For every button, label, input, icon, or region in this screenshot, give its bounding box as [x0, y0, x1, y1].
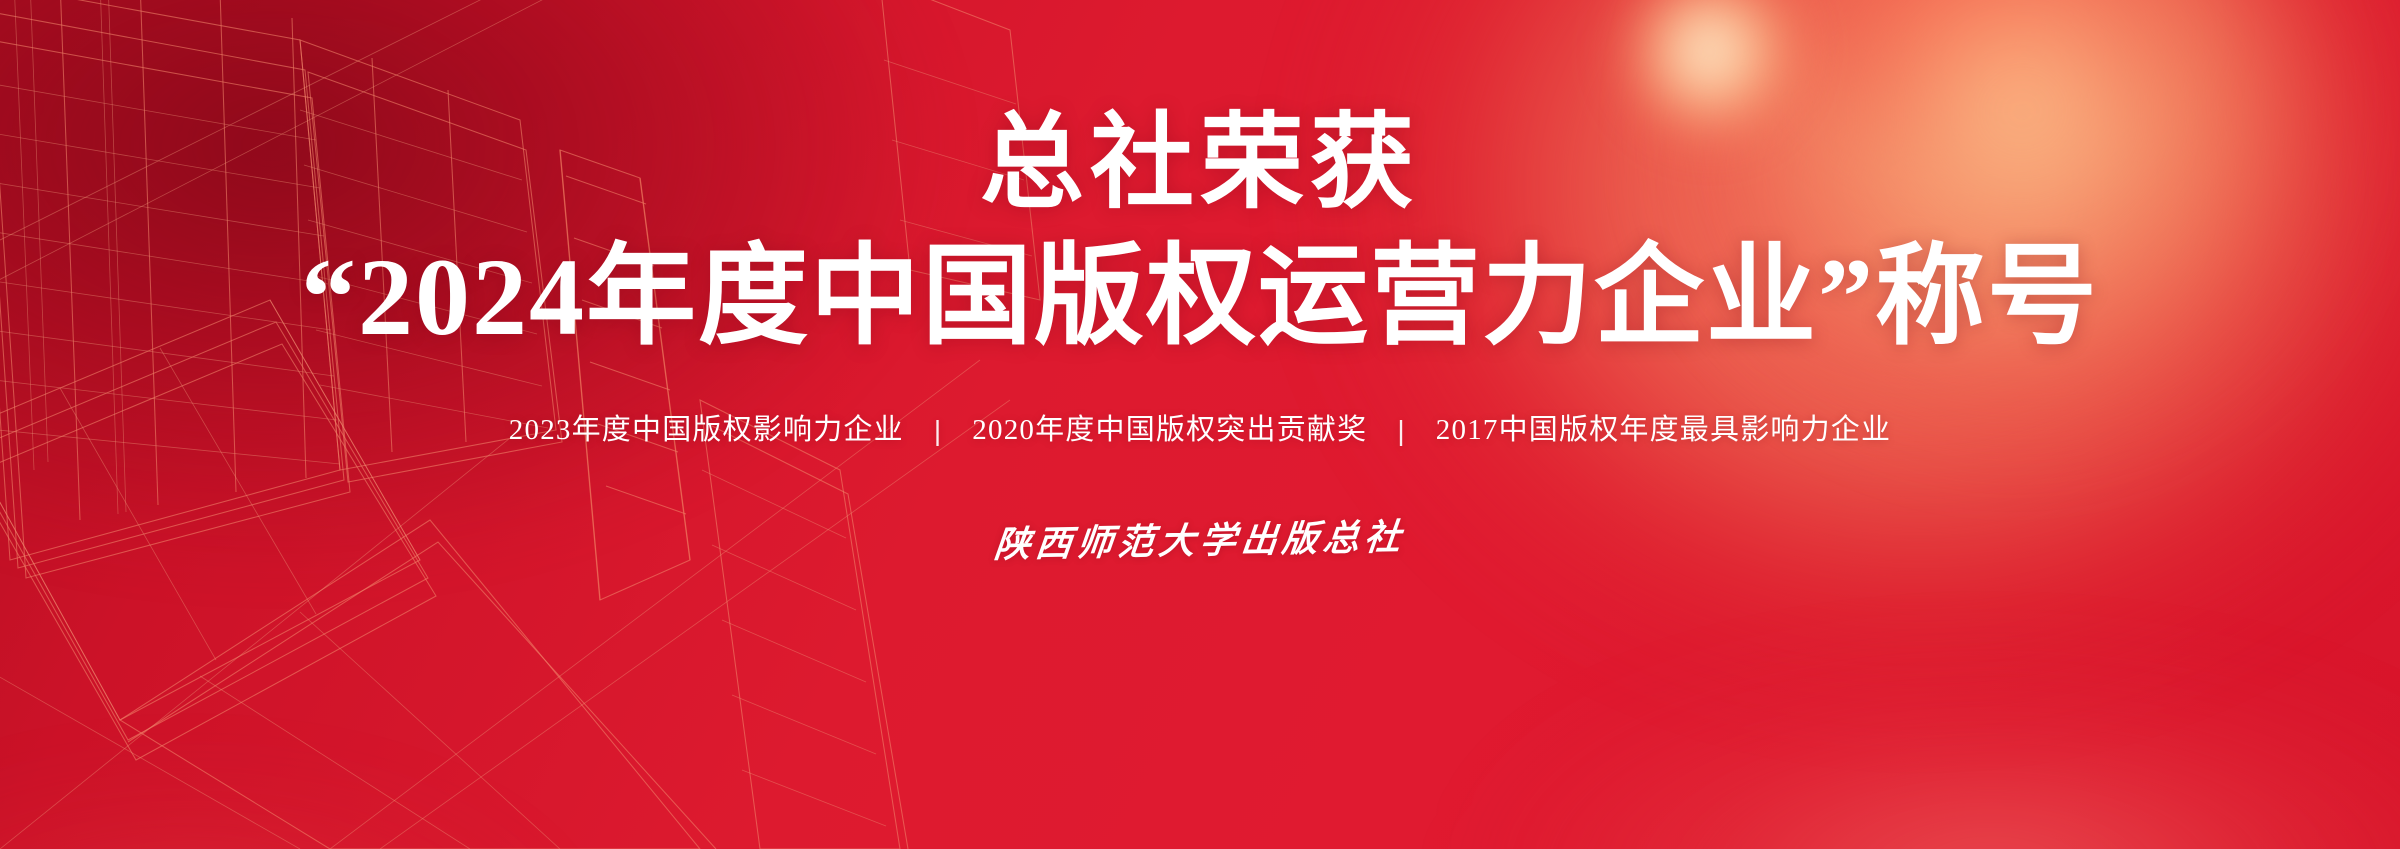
banner-content: 总社荣获 “2024年度中国版权运营力企业”称号 2023年度中国版权影响力企业…: [0, 0, 2400, 849]
award-item-1: 2023年度中国版权影响力企业: [509, 416, 904, 445]
award-separator-2: |: [1397, 417, 1405, 445]
publisher-signature: 陕西师范大学出版总社: [993, 519, 1408, 563]
awards-list: 2023年度中国版权影响力企业 | 2020年度中国版权突出贡献奖 | 2017…: [509, 416, 1891, 445]
award-separator-1: |: [934, 417, 942, 445]
award-item-3: 2017中国版权年度最具影响力企业: [1436, 416, 1891, 445]
award-item-2: 2020年度中国版权突出贡献奖: [972, 416, 1367, 445]
headline-line-1: 总社荣获: [980, 112, 1420, 216]
headline-line-2: “2024年度中国版权运营力企业”称号: [301, 242, 2099, 352]
award-banner: 总社荣获 “2024年度中国版权运营力企业”称号 2023年度中国版权影响力企业…: [0, 0, 2400, 849]
